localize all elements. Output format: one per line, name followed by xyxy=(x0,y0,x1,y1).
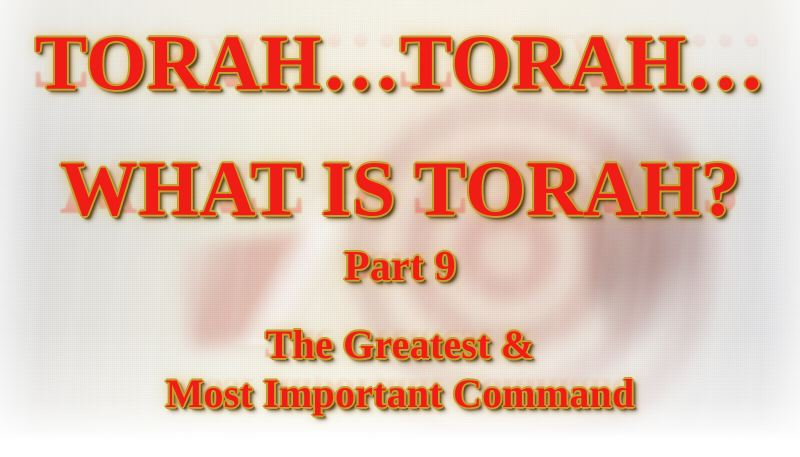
subtitle-line-2-group: Most Important Command Most Important Co… xyxy=(0,372,800,416)
title-line-1: TORAH…TORAH… xyxy=(0,22,800,104)
subtitle-line-1-group: The Greatest & The Greatest & xyxy=(0,323,800,367)
part-label: Part 9 xyxy=(0,244,800,290)
title-line-2: WHAT IS TORAH? xyxy=(0,148,800,230)
title-slide: TORAH…TORAH… TORAH…TORAH… WHAT IS TORAH?… xyxy=(0,0,800,457)
title-line-1-group: TORAH…TORAH… TORAH…TORAH… xyxy=(0,22,800,104)
subtitle-line-1: The Greatest & xyxy=(0,323,800,367)
title-text-stack: TORAH…TORAH… TORAH…TORAH… WHAT IS TORAH?… xyxy=(0,0,800,457)
title-line-2-group: WHAT IS TORAH? WHAT IS TORAH? xyxy=(0,148,800,230)
subtitle-line-2: Most Important Command xyxy=(0,372,800,416)
part-label-group: Part 9 Part 9 xyxy=(0,244,800,290)
